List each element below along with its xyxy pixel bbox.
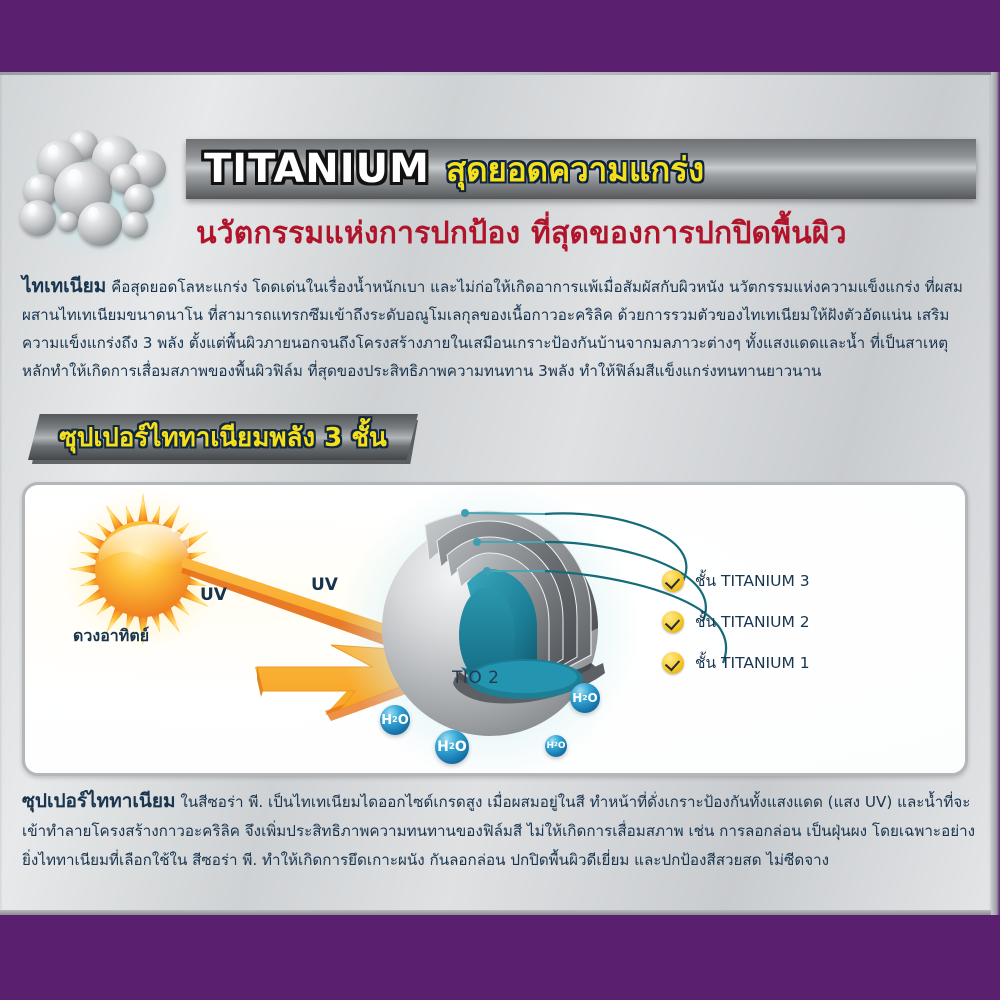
water-molecule: H2O — [570, 683, 600, 713]
sun-label: ดวงอาทิตย์ — [73, 624, 149, 649]
legend-item-label: ชั้น TITANIUM 2 — [695, 609, 810, 634]
legend-item-label: ชั้น TITANIUM 3 — [695, 568, 810, 593]
diagram-card: H2O H2O H2O H2O — [22, 482, 968, 776]
page-title-en: TITANIUM — [204, 146, 430, 192]
panel-bottom-divider — [0, 910, 991, 915]
tio2-label: TIO 2 — [452, 668, 500, 688]
outro-lead-word: ซุปเปอร์ไททาเนียม — [22, 790, 176, 812]
outro-paragraph: ซุปเปอร์ไททาเนียม ในสีซอร่า พี. เป็นไทเท… — [22, 787, 976, 875]
right-edge-gradient — [991, 72, 1000, 915]
page-subtitle: นวัตกรรมแห่งการปกป้อง ที่สุดของการปกปิดพ… — [196, 210, 976, 257]
water-molecule: H2O — [435, 730, 469, 764]
intro-lead-word: ไทเทเนียม — [22, 275, 106, 297]
legend-item-label: ชั้น TITANIUM 1 — [695, 650, 810, 675]
infographic-page: TITANIUM สุดยอดความแกร่ง นวัตกรรมแห่งการ… — [0, 0, 1000, 1000]
check-circle-icon — [662, 570, 684, 592]
titanium-molecule-cluster-icon — [18, 128, 178, 263]
uv-label-2: UV — [311, 575, 338, 595]
check-circle-icon — [662, 611, 684, 633]
section-banner-label: ซุปเปอร์ไททาเนียมพลัง 3 ชั้น — [59, 417, 387, 458]
header-banner: TITANIUM สุดยอดความแกร่ง — [186, 139, 976, 199]
legend-item: ชั้น TITANIUM 3 — [662, 560, 810, 601]
intro-body-text: คือสุดยอดโลหะแกร่ง โดดเด่นในเรื่องน้ำหนั… — [22, 278, 963, 380]
intro-paragraph: ไทเทเนียม คือสุดยอดโลหะแกร่ง โดดเด่นในเร… — [22, 272, 976, 385]
panel-top-divider — [0, 72, 991, 75]
page-title-th: สุดยอดความแกร่ง — [446, 143, 704, 196]
check-circle-icon — [662, 652, 684, 674]
legend-item: ชั้น TITANIUM 1 — [662, 642, 810, 683]
titanium-layers-legend: ชั้น TITANIUM 3 ชั้น TITANIUM 2 ชั้น TIT… — [662, 560, 810, 683]
water-molecule: H2O — [545, 735, 567, 757]
section-banner-plate: ซุปเปอร์ไททาเนียมพลัง 3 ชั้น — [28, 414, 418, 460]
section-banner: ซุปเปอร์ไททาเนียมพลัง 3 ชั้น — [24, 412, 444, 468]
water-molecule: H2O — [380, 705, 410, 735]
legend-item: ชั้น TITANIUM 2 — [662, 601, 810, 642]
uv-label-1: UV — [200, 585, 227, 605]
diagram-illustration — [25, 485, 965, 773]
